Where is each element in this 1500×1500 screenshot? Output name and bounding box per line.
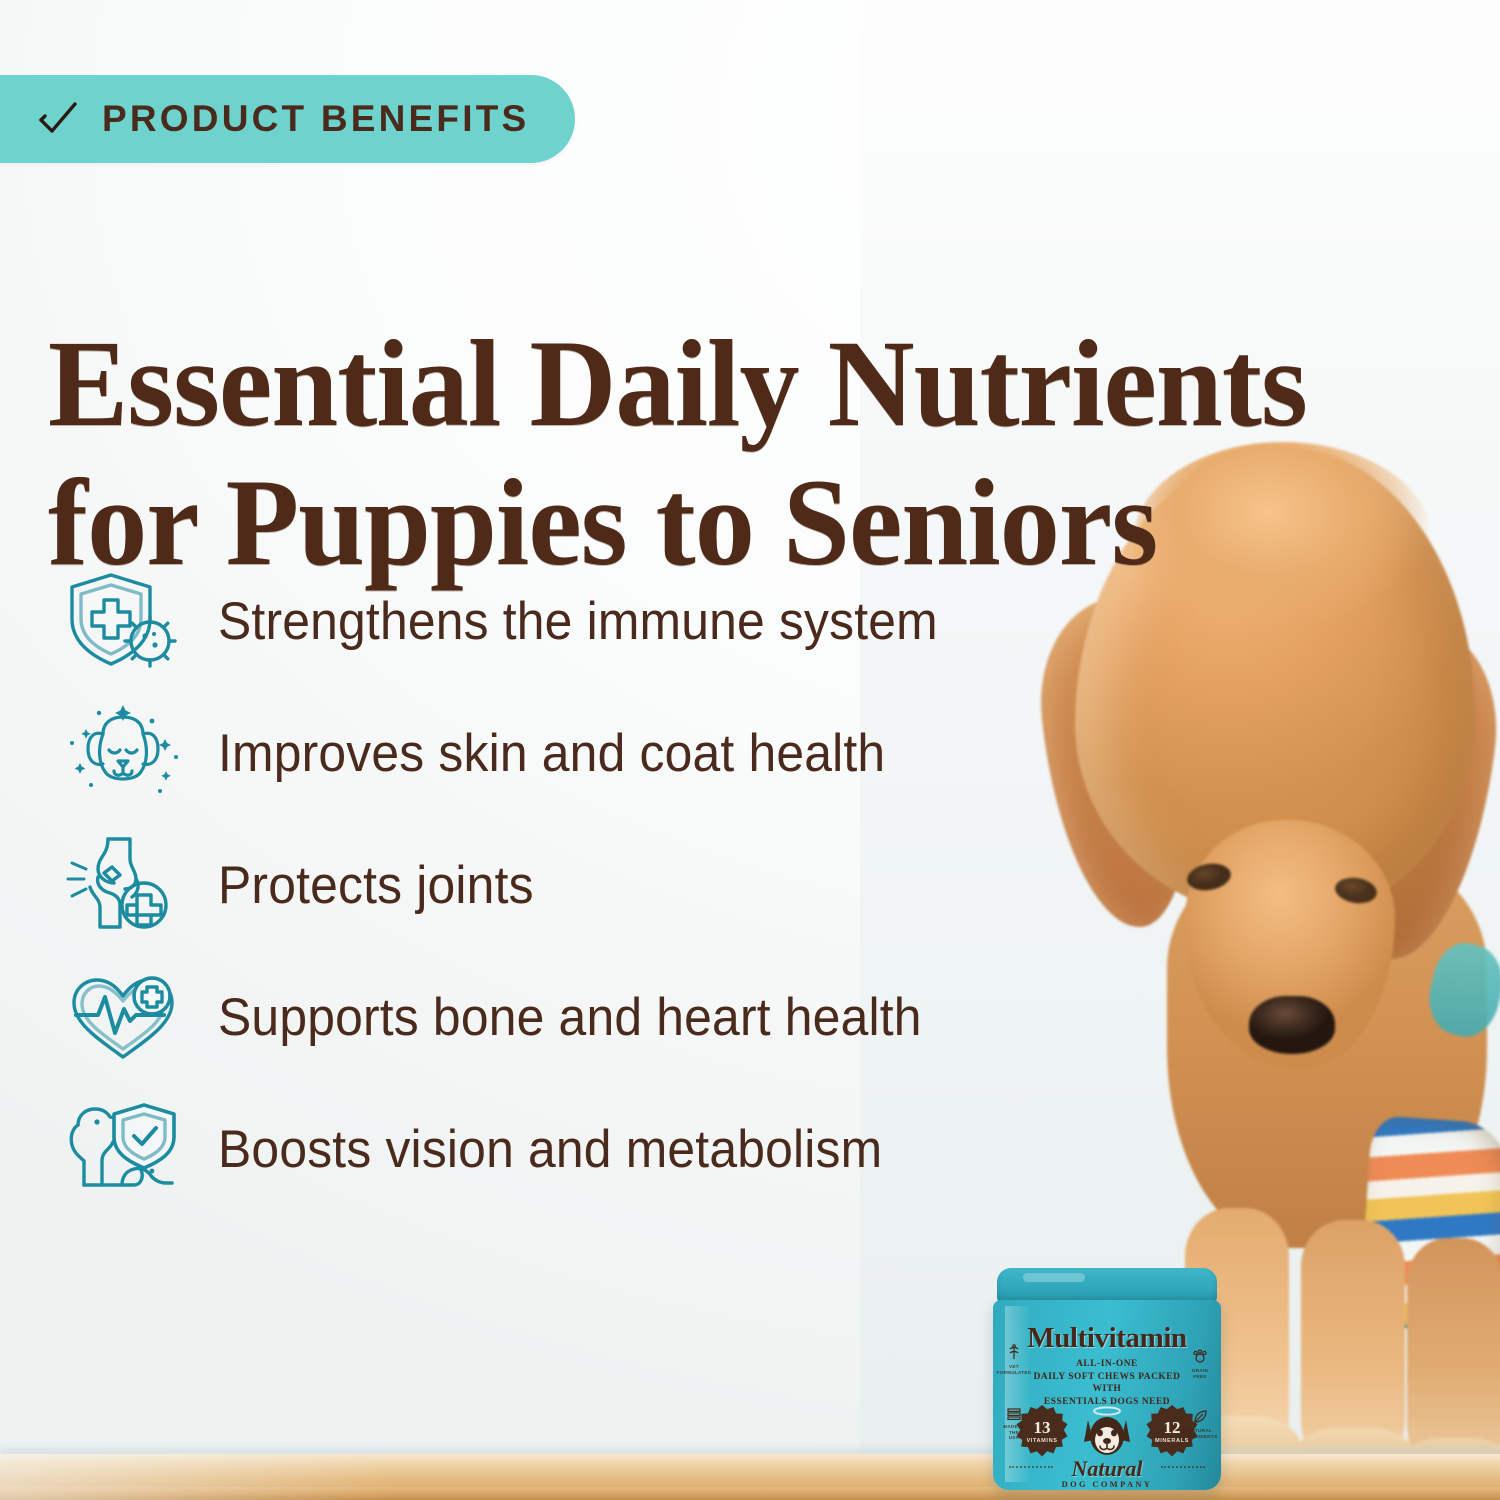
vet-caduceus-icon: VET FORMULATED [1003, 1344, 1025, 1375]
benefit-label: Supports bone and heart health [218, 987, 922, 1048]
dog-face-sparkles-icon [62, 698, 184, 808]
page-title: Essential Daily Nutrients for Puppies to… [48, 315, 1425, 593]
jar-lid-highlight [1023, 1273, 1085, 1282]
minerals-count: 12 [1164, 1419, 1181, 1436]
frenchie-face-halo-icon [1076, 1402, 1138, 1460]
paw-seal-icon: GRAIN FREE [1189, 1348, 1211, 1379]
shield-cross-virus-icon [62, 566, 184, 676]
benefit-label: Improves skin and coat health [218, 723, 885, 784]
vitamins-count: 13 [1034, 1419, 1051, 1436]
badge-label: PRODUCT BENEFITS [102, 98, 529, 140]
check-icon [36, 97, 80, 141]
brand-name: Natural [993, 1458, 1221, 1480]
brand-subtitle: DOG COMPANY [993, 1480, 1221, 1489]
benefit-label: Strengthens the immune system [218, 591, 938, 652]
chew-stack-icon: MADE IN THE USA [1003, 1404, 1025, 1441]
side-badge-text: NATURAL INGREDIENTS [1183, 1428, 1218, 1439]
heart-ecg-cross-icon [62, 962, 184, 1072]
side-badge-text: VET FORMULATED [997, 1364, 1032, 1375]
product-jar: Multivitamin ALL-IN-ONE DAILY SOFT CHEWS… [993, 1268, 1221, 1490]
benefit-item: Protects joints [62, 819, 1082, 951]
vitamins-caption: VITAMINS [1026, 1438, 1057, 1444]
jar-subtitle-line-1: ALL-IN-ONE [1019, 1358, 1195, 1371]
product-benefits-graphic: PRODUCT BENEFITS Essential Daily Nutrien… [0, 0, 1500, 1500]
jar-body: Multivitamin ALL-IN-ONE DAILY SOFT CHEWS… [993, 1300, 1221, 1490]
jar-lid [997, 1268, 1217, 1304]
jar-subtitle-line-2: DAILY SOFT CHEWS PACKED WITH [1019, 1371, 1195, 1396]
floor-fade-overlay [0, 1454, 560, 1500]
benefit-label: Boosts vision and metabolism [218, 1119, 882, 1180]
side-badge-text: MADE IN THE USA [1003, 1424, 1025, 1441]
product-benefits-badge: PRODUCT BENEFITS [0, 75, 575, 163]
benefit-item: Strengthens the immune system [62, 555, 1082, 687]
headline-line-1: Essential Daily Nutrients [48, 315, 1307, 452]
benefit-label: Protects joints [218, 855, 534, 916]
dog-nose [1249, 996, 1335, 1054]
jar-product-title: Multivitamin [993, 1322, 1221, 1355]
leaf-seal-icon: NATURAL INGREDIENTS [1189, 1408, 1211, 1439]
dog-shield-check-icon [62, 1094, 184, 1204]
benefit-item: Boosts vision and metabolism [62, 1083, 1082, 1215]
benefit-item: Supports bone and heart health [62, 951, 1082, 1083]
benefit-item: Improves skin and coat health [62, 687, 1082, 819]
bone-joint-cross-icon [62, 830, 184, 940]
side-badge-text: GRAIN FREE [1189, 1368, 1211, 1379]
benefits-list: Strengthens the immune system [62, 555, 1082, 1215]
